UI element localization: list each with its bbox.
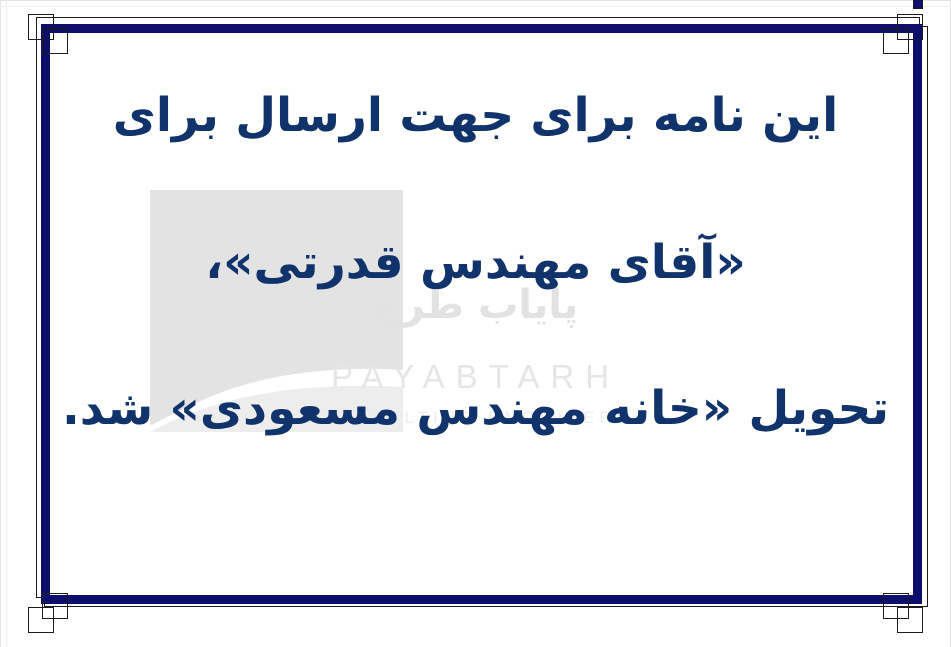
corner-ornament-top-right-inner	[883, 28, 909, 54]
page-edge-top-secondary	[0, 6, 951, 7]
note-body: این نامه برای جهت ارسال برای «آقای مهندس…	[60, 60, 891, 560]
note-line-1: این نامه برای جهت ارسال برای	[60, 90, 891, 142]
corner-artifact-marker	[913, 0, 923, 9]
page-edge-left-secondary	[6, 0, 7, 647]
corner-ornament-top-left-inner	[42, 28, 68, 54]
note-line-3: تحویل «خانه مهندس مسعودی» شد.	[60, 383, 891, 435]
note-line-2: «آقای مهندس قدرتی»،	[60, 237, 891, 289]
page-edge-left	[0, 0, 1, 647]
slide-canvas: پایاب طرح PAYABTARH CONSULTING ENGINEERS…	[0, 0, 951, 647]
page-edge-top	[0, 0, 951, 1]
corner-ornament-bottom-left-inner	[42, 593, 68, 619]
corner-ornament-bottom-right-inner	[883, 593, 909, 619]
